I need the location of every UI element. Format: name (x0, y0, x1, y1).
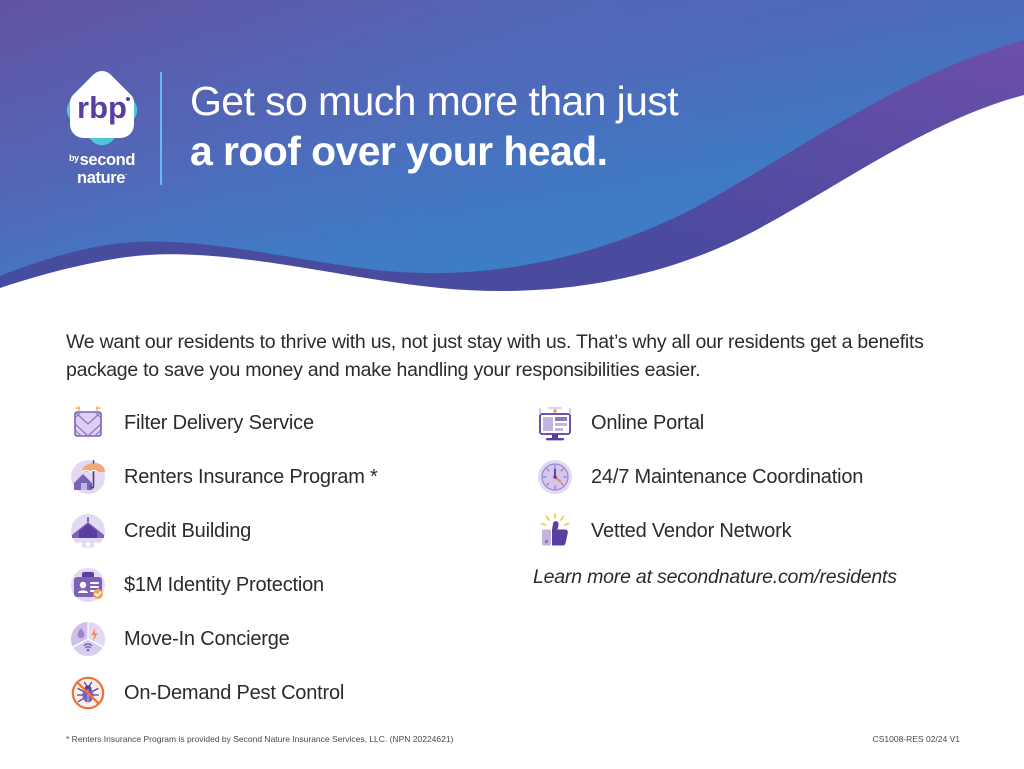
id-badge-check-icon (66, 563, 110, 607)
benefit-label: $1M Identity Protection (124, 574, 324, 597)
intro-paragraph: We want our residents to thrive with us,… (66, 328, 956, 384)
benefit-item-vetted-vendor-network: Vetted Vendor Network (533, 504, 973, 558)
thumbs-up-icon (533, 509, 577, 553)
credit-stars-icon (66, 509, 110, 553)
logo-byline-line2: nature· (58, 170, 146, 187)
logo-byline-second: second (80, 151, 135, 169)
footer-disclaimer: * Renters Insurance Program is provided … (66, 734, 453, 744)
benefit-label: Filter Delivery Service (124, 412, 314, 435)
utilities-wifi-icon (66, 617, 110, 661)
headline-line-1: Get so much more than just (190, 76, 678, 126)
no-pest-icon (66, 671, 110, 715)
benefit-item-identity-protection: $1M Identity Protection (66, 558, 506, 612)
benefit-label: Credit Building (124, 520, 251, 543)
benefit-label: 24/7 Maintenance Coordination (591, 466, 863, 489)
logo-byline-line1: bysecond (58, 152, 146, 169)
brand-logo: rbp bysecond nature· (58, 66, 146, 186)
page-title: Get so much more than just a roof over y… (190, 76, 678, 176)
rbp-logo-icon: rbp (58, 66, 146, 154)
benefit-label: Renters Insurance Program * (124, 466, 378, 489)
benefit-label: Move-In Concierge (124, 628, 290, 651)
logo-byline-nature: nature (77, 169, 125, 187)
benefit-item-move-in-concierge: Move-In Concierge (66, 612, 506, 666)
hero-vertical-divider (160, 72, 162, 185)
air-filter-icon (66, 401, 110, 445)
logo-byline-tm: · (125, 172, 127, 179)
learn-more-text[interactable]: Learn more at secondnature.com/residents (533, 566, 897, 589)
benefit-label: Online Portal (591, 412, 704, 435)
clock-icon (533, 455, 577, 499)
benefit-item-maintenance-coordination: 24/7 Maintenance Coordination (533, 450, 973, 504)
benefit-item-credit-building: Credit Building (66, 504, 506, 558)
flyer-page: rbp bysecond nature· Get so much more th… (0, 0, 1024, 769)
monitor-portal-icon (533, 401, 577, 445)
benefit-item-pest-control: On-Demand Pest Control (66, 666, 506, 720)
rbp-logo-mark-graphic: rbp (58, 66, 146, 154)
umbrella-house-icon (66, 455, 110, 499)
headline-line-2: a roof over your head. (190, 126, 678, 176)
logo-byline: bysecond nature· (58, 152, 146, 186)
benefits-column-left: Filter Delivery Service Renters Insuranc… (66, 396, 506, 720)
benefits-column-right: Online Portal 24 (533, 396, 973, 558)
footer-doc-code: CS1008-RES 02/24 V1 (873, 734, 960, 744)
benefit-item-online-portal: Online Portal (533, 396, 973, 450)
benefit-item-renters-insurance-program: Renters Insurance Program * (66, 450, 506, 504)
rbp-logo-text: rbp (77, 90, 127, 125)
benefit-label: On-Demand Pest Control (124, 682, 344, 705)
logo-byline-by: by (69, 153, 79, 163)
benefit-item-filter-delivery-service: Filter Delivery Service (66, 396, 506, 450)
hero-banner: rbp bysecond nature· Get so much more th… (0, 0, 1024, 300)
benefit-label: Vetted Vendor Network (591, 520, 791, 543)
